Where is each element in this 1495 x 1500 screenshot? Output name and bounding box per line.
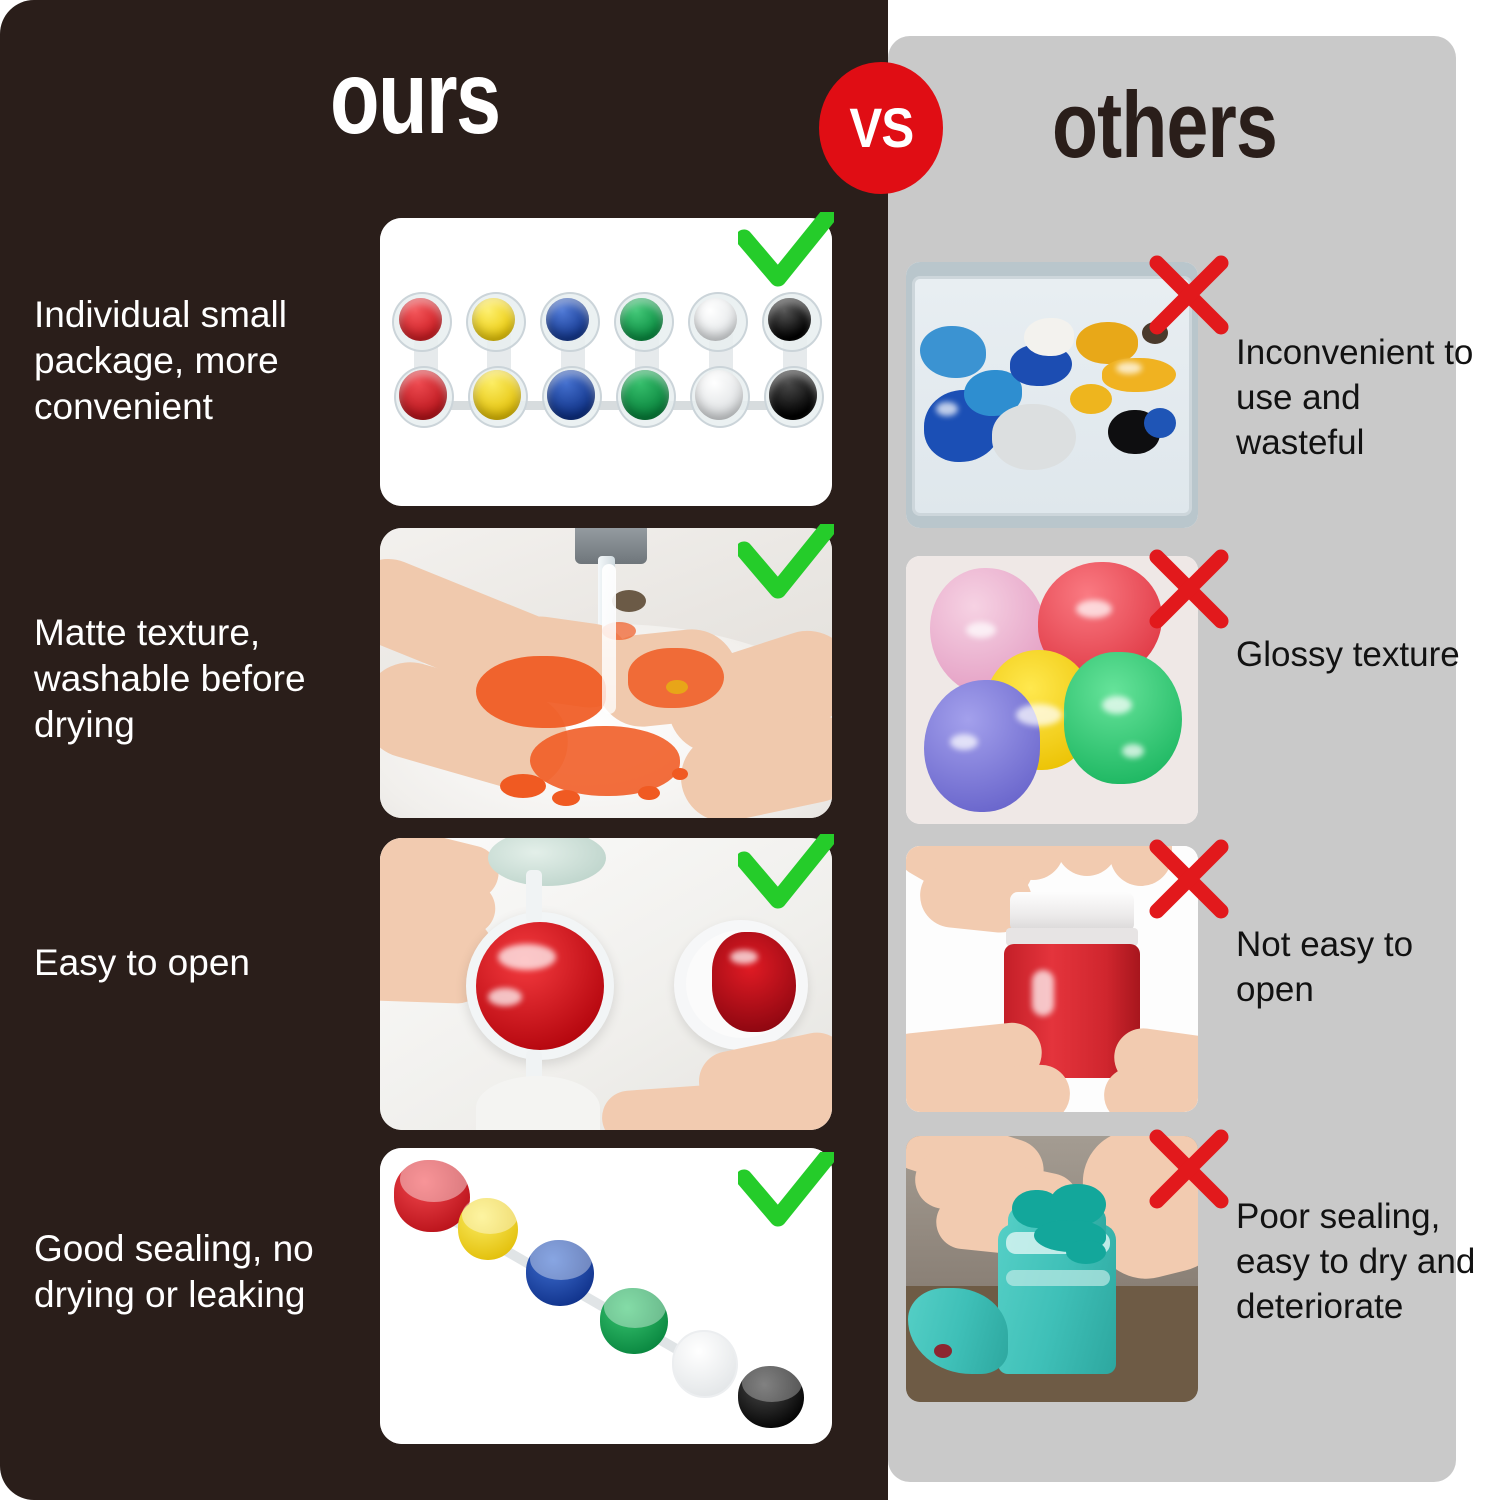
check-icon — [738, 524, 834, 608]
others-feature-label-2: Glossy texture — [1236, 632, 1486, 677]
cross-icon — [1148, 1128, 1230, 1210]
comparison-infographic: ours others VS Individual small package,… — [0, 0, 1495, 1500]
ours-feature-label-1: Individual small package, more convenien… — [34, 292, 364, 430]
others-heading: others — [1052, 78, 1277, 172]
ours-heading: ours — [330, 46, 500, 150]
ours-feature-label-4: Good sealing, no drying or leaking — [34, 1226, 364, 1318]
cross-icon — [1148, 838, 1230, 920]
ours-feature-label-3: Easy to open — [34, 940, 364, 986]
ours-feature-label-2: Matte texture, washable before drying — [34, 610, 364, 748]
vs-label: VS — [849, 95, 913, 160]
others-feature-label-1: Inconvenient to use and wasteful — [1236, 330, 1486, 465]
vs-badge: VS — [819, 62, 943, 194]
cross-icon — [1148, 254, 1230, 336]
cross-icon — [1148, 548, 1230, 630]
check-icon — [738, 1152, 834, 1236]
check-icon — [738, 212, 834, 296]
others-feature-label-4: Poor sealing, easy to dry and deteriorat… — [1236, 1194, 1486, 1329]
check-icon — [738, 834, 834, 918]
others-feature-label-3: Not easy to open — [1236, 922, 1486, 1012]
